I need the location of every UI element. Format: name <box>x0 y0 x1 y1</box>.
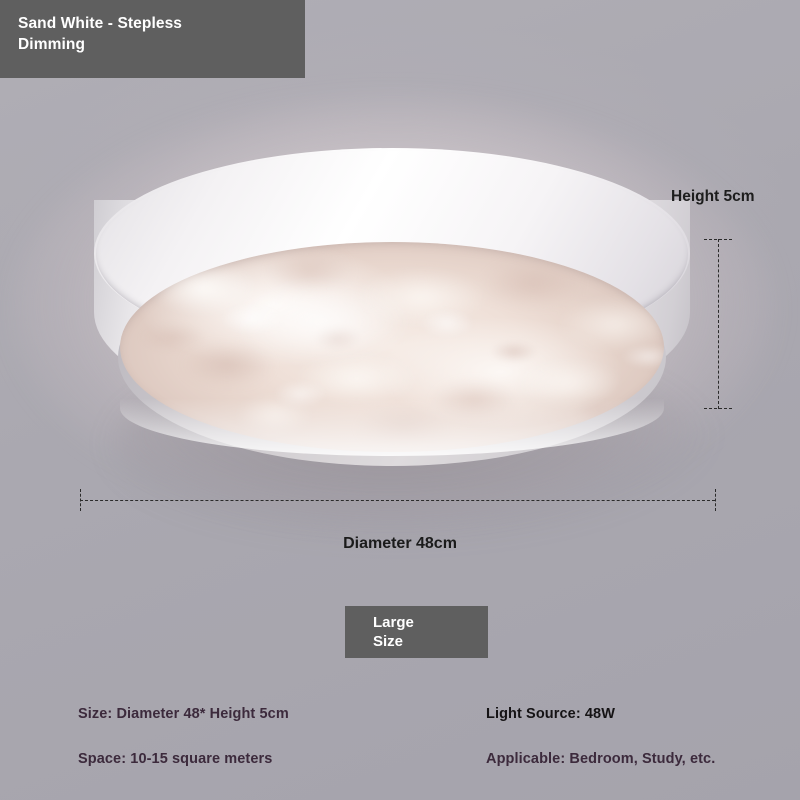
product-image-canvas: Sand White - Stepless Dimming Height 5cm… <box>0 0 800 800</box>
size-badge: Large Size <box>345 606 488 658</box>
height-dimension-line <box>718 239 719 409</box>
variant-title: Sand White - Stepless Dimming <box>18 14 233 56</box>
size-badge-line-2: Size <box>373 632 488 651</box>
moon-highlight <box>229 280 414 364</box>
height-dimension-label: Height 5cm <box>671 188 755 206</box>
spec-applicable: Applicable: Bedroom, Study, etc. <box>486 751 715 767</box>
moon-diffuser-panel <box>120 242 664 452</box>
lamp-body <box>94 148 690 448</box>
variant-banner: Sand White - Stepless Dimming <box>0 0 305 78</box>
spec-size: Size: Diameter 48* Height 5cm <box>78 706 289 722</box>
diameter-dimension-cap-right <box>715 489 716 511</box>
ceiling-lamp-illustration <box>72 140 712 480</box>
size-badge-line-1: Large <box>373 613 488 632</box>
spec-space: Space: 10-15 square meters <box>78 751 272 767</box>
diameter-dimension-line <box>80 500 715 501</box>
height-dimension-cap-bottom <box>704 408 732 409</box>
specification-list: Size: Diameter 48* Height 5cm Space: 10-… <box>0 700 800 790</box>
diameter-dimension-label: Diameter 48cm <box>0 535 800 553</box>
spec-light-source: Light Source: 48W <box>486 706 615 722</box>
